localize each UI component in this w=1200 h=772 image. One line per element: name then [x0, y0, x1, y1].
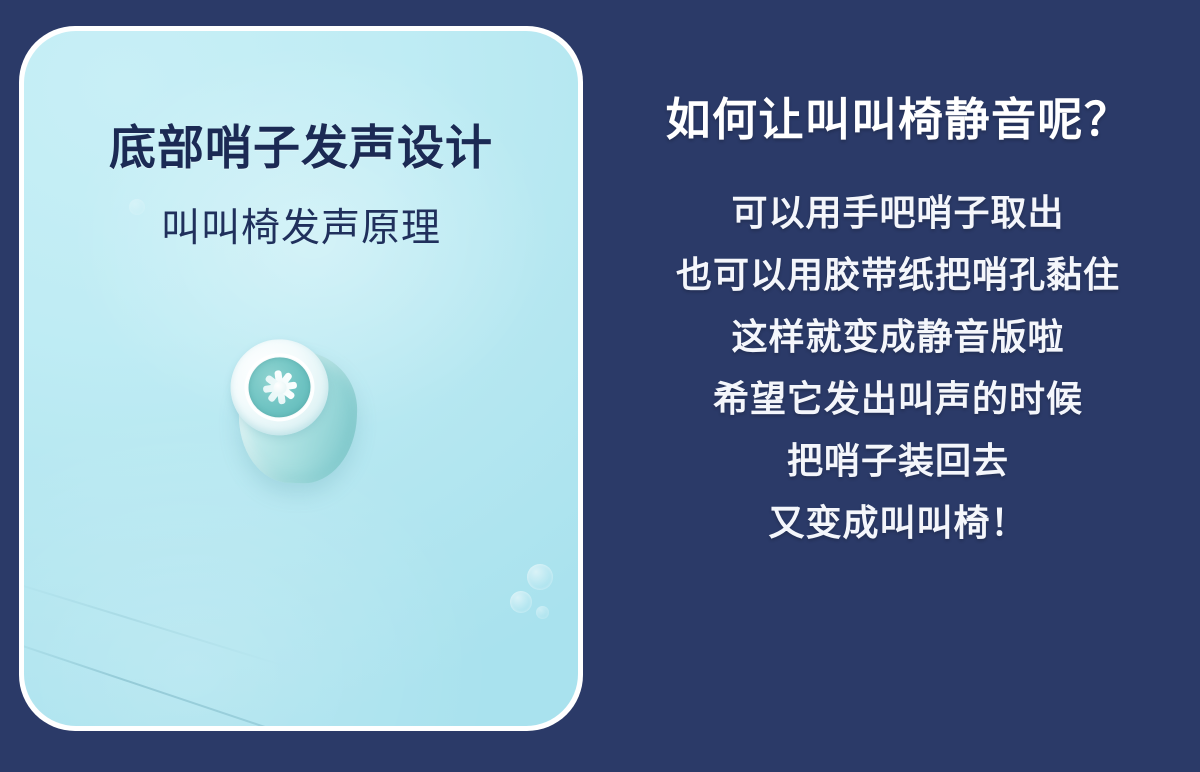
whistle-nub: [210, 325, 386, 497]
whistle-grille-ring: [240, 349, 319, 426]
product-photo-card: 底部哨子发声设计 叫叫椅发声原理: [19, 26, 583, 731]
instruction-heading: 如何让叫叫椅静音呢？: [596, 83, 1200, 148]
instruction-line-list: 可以用手吧哨子取出 也可以用胶带纸把哨孔黏住 这样就变成静音版啦 希望它发出叫声…: [596, 182, 1200, 554]
plastic-seam-line: [24, 632, 383, 726]
promo-banner: 底部哨子发声设计 叫叫椅发声原理 如何让叫叫椅静音呢？ 可以用手吧哨子取出 也可…: [0, 0, 1200, 772]
instruction-line: 希望它发出叫声的时候: [596, 368, 1200, 430]
bubble-icon: [527, 564, 553, 590]
card-title: 底部哨子发声设计: [24, 109, 578, 178]
instruction-line: 又变成叫叫椅！: [596, 492, 1200, 554]
instruction-line: 这样就变成静音版啦: [596, 306, 1200, 368]
product-photo: 底部哨子发声设计 叫叫椅发声原理: [24, 31, 578, 726]
card-subtitle: 叫叫椅发声原理: [24, 197, 578, 253]
bubble-icon: [510, 591, 532, 613]
instruction-line: 可以用手吧哨子取出: [596, 182, 1200, 244]
instruction-panel: 如何让叫叫椅静音呢？ 可以用手吧哨子取出 也可以用胶带纸把哨孔黏住 这样就变成静…: [596, 0, 1200, 772]
plastic-seam-line-secondary: [24, 576, 281, 666]
instruction-line: 也可以用胶带纸把哨孔黏住: [596, 244, 1200, 306]
bubble-icon: [536, 606, 549, 619]
instruction-line: 把哨子装回去: [596, 430, 1200, 492]
